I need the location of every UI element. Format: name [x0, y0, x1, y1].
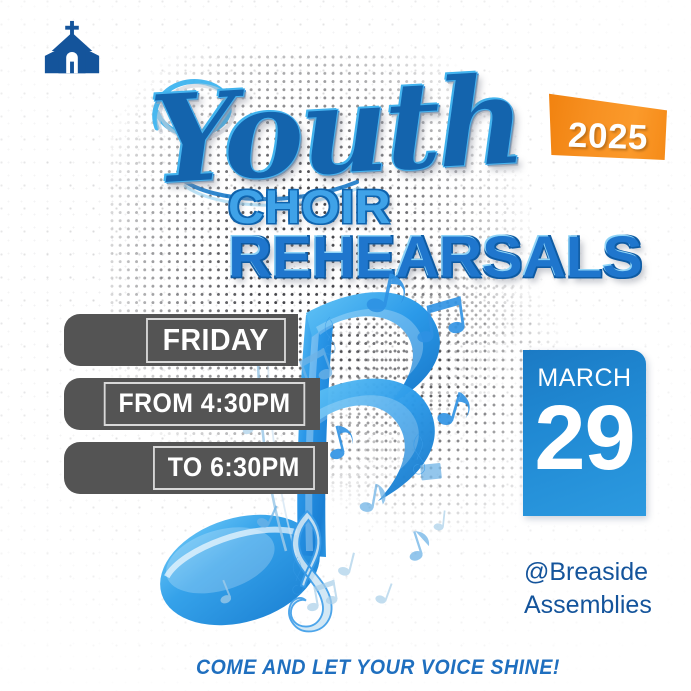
- title-choir: CHOIR: [228, 183, 391, 230]
- detail-from-label: FROM 4:30PM: [104, 382, 306, 426]
- poster-canvas: Youth CHOIR REHEARSALS 2025: [0, 0, 691, 691]
- detail-box-day: FRIDAY: [64, 314, 298, 366]
- venue-line-1: @Breaside: [524, 556, 691, 589]
- date-day: 29: [523, 390, 646, 487]
- venue-line-2: Assemblies: [524, 589, 691, 622]
- date-card: MARCH 29: [523, 350, 646, 516]
- detail-box-from: FROM 4:30PM: [64, 378, 320, 430]
- year-badge-label: 2025: [548, 117, 667, 156]
- venue-block: @Breaside Assemblies: [524, 556, 691, 622]
- detail-box-to: TO 6:30PM: [64, 442, 328, 494]
- detail-to-label: TO 6:30PM: [153, 446, 315, 490]
- detail-day-label: FRIDAY: [147, 318, 286, 363]
- tagline: COME AND LET YOUR VOICE SHINE!: [196, 656, 560, 680]
